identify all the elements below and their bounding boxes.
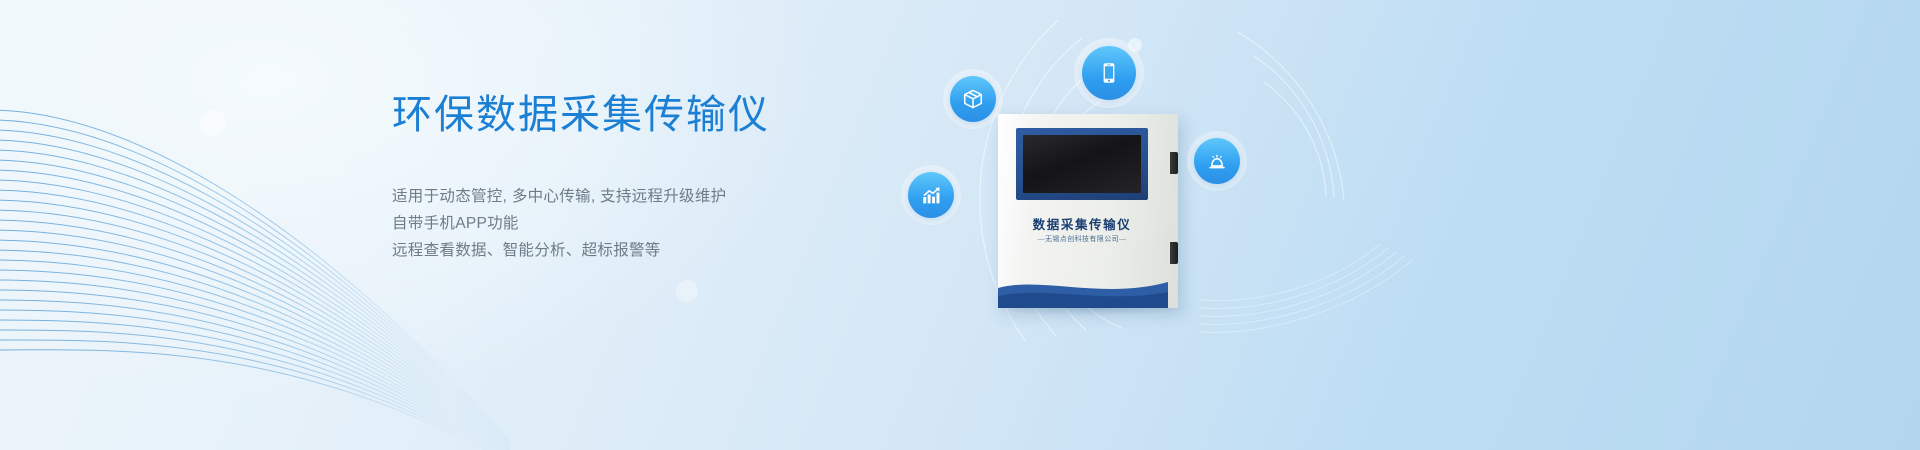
chart-icon[interactable] xyxy=(908,172,954,218)
device-latch-upper xyxy=(1170,152,1178,174)
device-screen xyxy=(1023,135,1141,193)
device-base-wave xyxy=(998,274,1168,308)
product-illustration: 数据采集传输仪 —无锡点创科技有限公司— xyxy=(860,0,1560,450)
data-acquisition-device: 数据采集传输仪 —无锡点创科技有限公司— xyxy=(998,114,1178,308)
product-hero-banner: 环保数据采集传输仪 适用于动态管控, 多中心传输, 支持远程升级维护 自带手机A… xyxy=(0,0,1920,450)
box-icon[interactable] xyxy=(950,76,996,122)
device-panel-title: 数据采集传输仪 xyxy=(998,214,1166,233)
bubble-decoration xyxy=(676,280,698,302)
bubble-decoration xyxy=(200,110,226,136)
radiating-arcs-decoration xyxy=(860,0,1560,450)
device-screen-bezel xyxy=(1016,128,1148,200)
alarm-icon[interactable] xyxy=(1194,138,1240,184)
device-latch-lower xyxy=(1170,242,1178,264)
phone-icon[interactable] xyxy=(1082,46,1136,100)
device-company-name: —无锡点创科技有限公司— xyxy=(998,234,1166,244)
